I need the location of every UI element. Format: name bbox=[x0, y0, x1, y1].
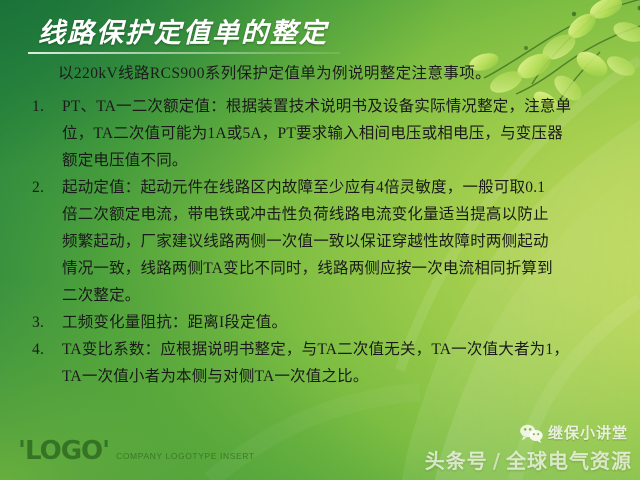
watermark: 继保小讲堂 头条号 / 全球电气资源 bbox=[422, 422, 634, 476]
list-item-line: TA一次值小者为本侧与对侧TA一次值之比。 bbox=[62, 363, 630, 390]
watermark-channel: 头条号 bbox=[425, 445, 488, 474]
list-item-line: 位，TA二次值可能为1A或5A，PT要求输入相间电压或相电压，与变压器 bbox=[62, 120, 630, 147]
watermark-brand-text: 继保小讲堂 bbox=[548, 422, 628, 443]
list-item: 2. 起动定值：起动元件在线路区内故障至少应有4倍灵敏度，一般可取0.1 倍二次… bbox=[0, 174, 640, 309]
logo-subtitle: COMPANY LOGOTYPE INSERT bbox=[116, 451, 255, 464]
logo-mark: 'LOGO' bbox=[18, 438, 109, 464]
list-item-line: PT、TA一二次额定值：根据装置技术说明书及设备实际情况整定，注意单 bbox=[62, 93, 630, 120]
footer-logo: 'LOGO' COMPANY LOGOTYPE INSERT bbox=[18, 438, 255, 464]
list-item-line: 倍二次额定电流，带电铁或冲击性负荷线路电流变化量适当提高以防止 bbox=[62, 201, 630, 228]
list-item-number: 1. bbox=[32, 93, 62, 120]
list-item-number: 3. bbox=[32, 309, 62, 336]
numbered-list: 1. PT、TA一二次额定值：根据装置技术说明书及设备实际情况整定，注意单 位，… bbox=[0, 93, 640, 390]
slide-body: 以220kV线路RCS900系列保护定值单为例说明整定注意事项。 1. PT、T… bbox=[0, 60, 640, 390]
watermark-source-row: 头条号 / 全球电气资源 bbox=[425, 445, 632, 474]
list-item: 4. TA变比系数：应根据说明书整定，与TA二次值无关，TA一次值大者为1， T… bbox=[0, 336, 640, 390]
list-item-line: 二次整定。 bbox=[62, 282, 630, 309]
watermark-source: 全球电气资源 bbox=[506, 445, 632, 474]
watermark-separator: / bbox=[493, 449, 501, 473]
presentation-slide: 线路保护定值单的整定 以220kV线路RCS900系列保护定值单为例说明整定注意… bbox=[0, 0, 640, 480]
list-item-number: 2. bbox=[32, 174, 62, 201]
list-item-line: 情况一致，线路两侧TA变比不同时，线路两侧应按一次电流相同折算到 bbox=[62, 255, 630, 282]
list-item-line: 频繁起动，厂家建议线路两侧一次值一致以保证穿越性故障时两侧起动 bbox=[62, 228, 630, 255]
page-title: 线路保护定值单的整定 bbox=[38, 11, 328, 50]
title-divider bbox=[28, 52, 340, 54]
list-item-line: 起动定值：起动元件在线路区内故障至少应有4倍灵敏度，一般可取0.1 bbox=[62, 174, 630, 201]
lead-paragraph: 以220kV线路RCS900系列保护定值单为例说明整定注意事项。 bbox=[58, 60, 640, 87]
list-item-line: 工频变化量阻抗：距离I段定值。 bbox=[62, 309, 630, 336]
list-item: 1. PT、TA一二次额定值：根据装置技术说明书及设备实际情况整定，注意单 位，… bbox=[0, 93, 640, 174]
list-item-line: TA变比系数：应根据说明书整定，与TA二次值无关，TA一次值大者为1， bbox=[62, 336, 630, 363]
list-item-line: 额定电压值不同。 bbox=[62, 147, 630, 174]
list-item-number: 4. bbox=[32, 336, 62, 363]
list-item: 3. 工频变化量阻抗：距离I段定值。 bbox=[0, 309, 640, 336]
watermark-brand-row: 继保小讲堂 bbox=[518, 422, 628, 443]
wechat-icon bbox=[518, 423, 544, 443]
